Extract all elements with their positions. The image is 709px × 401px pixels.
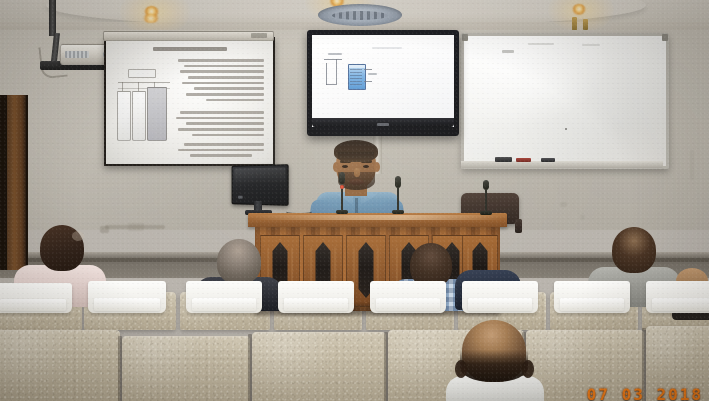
presenter-hair [334, 140, 378, 162]
tv-diagram-outlet-2 [364, 81, 372, 82]
headrest-cover-r2-6 [462, 281, 538, 313]
presenter-ear-left [333, 162, 339, 172]
tv-diagram-outlet [364, 69, 372, 70]
headrest-cover-r2-1 [0, 283, 72, 313]
seat-r3-1 [0, 330, 120, 401]
headrest-cover-r2-7 [554, 281, 630, 313]
presenter-ear-right [374, 162, 380, 172]
tv-diagram-line-4 [324, 59, 342, 60]
whiteboard-smudge-2 [528, 43, 554, 45]
ceiling-speaker-icon [318, 4, 402, 26]
slide-paragraph-2 [176, 111, 264, 139]
seat-divider-2 [248, 334, 252, 401]
tv-diagram-title [372, 47, 402, 49]
microphone-right-capsule [395, 176, 401, 188]
microphone-left-gooseneck [341, 189, 343, 211]
diagram-line-top [118, 82, 170, 83]
lcd-screen [312, 35, 454, 127]
tv-diagram-label-top [328, 53, 342, 55]
slide-paragraph-3 [176, 143, 264, 160]
whiteboard-smudge-1 [502, 50, 514, 53]
attendee-foreground-hair [460, 350, 528, 382]
seat-r3-2 [122, 336, 250, 401]
whiteboard [461, 33, 669, 169]
seat-divider-3 [384, 332, 388, 401]
tv-diagram-line-3 [336, 59, 337, 85]
wall-socket-right [560, 202, 567, 207]
tv-diagram-label-right [368, 73, 377, 75]
projection-screen-case [103, 31, 274, 41]
whiteboard-clip-right [662, 34, 668, 41]
chair-arm-right [515, 219, 522, 233]
whiteboard-marker-tray [461, 161, 663, 168]
headrest-cover-r2-2 [88, 281, 166, 313]
diagram-vessel-3 [147, 87, 167, 141]
presenter-mouth [349, 179, 364, 185]
lectern-top-rail [248, 213, 507, 227]
spotlight-left-flare [142, 14, 160, 23]
microphone-far-right-base [480, 211, 492, 215]
marker-black[interactable] [541, 158, 555, 162]
slide-title-text [153, 47, 227, 51]
wall-socket-left [128, 223, 144, 231]
whiteboard-clip-left [462, 34, 468, 41]
ceiling-hook-right [572, 17, 577, 31]
tv-brand-logo [377, 123, 389, 126]
seat-divider-1 [118, 336, 122, 401]
tv-diagram-line-2 [326, 84, 336, 85]
podium-monitor-sheen [234, 167, 285, 185]
podium-monitor-screen [232, 164, 289, 206]
spotlight-right [572, 4, 586, 15]
attendee-foreground-ear-left [455, 360, 467, 378]
headrest-cover-r2-8 [646, 281, 709, 313]
microphone-far-right-capsule [483, 180, 489, 190]
diagram-header-box [128, 69, 156, 78]
headrest-cover-r2-3 [186, 281, 262, 313]
screen-brand-label [251, 33, 267, 38]
lcd-display [307, 30, 459, 136]
attendee-foreground-ear-right [522, 360, 534, 378]
presenter-eye-left [342, 165, 348, 168]
attendee-grey-jacket-head [612, 227, 656, 273]
wall-corner-right [690, 150, 694, 180]
microphone-left[interactable] [335, 172, 349, 214]
microphone-right-gooseneck [397, 188, 399, 211]
attendee-front-left-glasses-arm [72, 231, 84, 241]
diagram-vessel-2 [132, 91, 146, 141]
attendee-grey-hair-head [217, 239, 261, 284]
camera-timestamp: 07 03 2018 [587, 385, 703, 401]
microphone-far-right-gooseneck [485, 190, 487, 212]
whiteboard-eraser[interactable] [495, 157, 512, 162]
tv-bottom-bezel [312, 118, 454, 127]
lecture-hall-photograph: 07 03 2018 [0, 0, 709, 401]
microphone-left-capsule [339, 172, 345, 184]
presenter-eye-right [363, 165, 369, 168]
tv-diagram-tank-hatch [350, 69, 362, 85]
headrest-cover-r2-4 [278, 281, 354, 313]
seat-r3-3 [252, 332, 386, 401]
projection-screen [104, 37, 275, 166]
slide-paragraph-1 [176, 59, 264, 105]
marker-red[interactable] [516, 158, 531, 162]
microphone-right[interactable] [391, 176, 405, 214]
wall-mark-right [580, 215, 585, 220]
ceiling-hook-right-2 [583, 19, 588, 30]
whiteboard-smudge-3 [582, 44, 600, 46]
microphone-right-base [392, 210, 404, 214]
diagram-vessel-1 [117, 91, 131, 141]
microphone-far-right[interactable] [480, 180, 492, 214]
microphone-left-base [336, 210, 348, 214]
whiteboard-sheen [464, 36, 666, 166]
projector-mount-pole [49, 0, 56, 36]
headrest-cover-r2-5 [370, 281, 446, 313]
podium-monitor[interactable] [230, 165, 286, 217]
presenter-nose [354, 168, 360, 177]
attendee-foreground-bald [450, 320, 540, 401]
tv-diagram-line-1 [326, 63, 327, 85]
slide-diagram-vessels [116, 69, 174, 147]
door-shadow-edge [0, 95, 7, 270]
podium-monitor-power-button[interactable] [238, 196, 243, 199]
